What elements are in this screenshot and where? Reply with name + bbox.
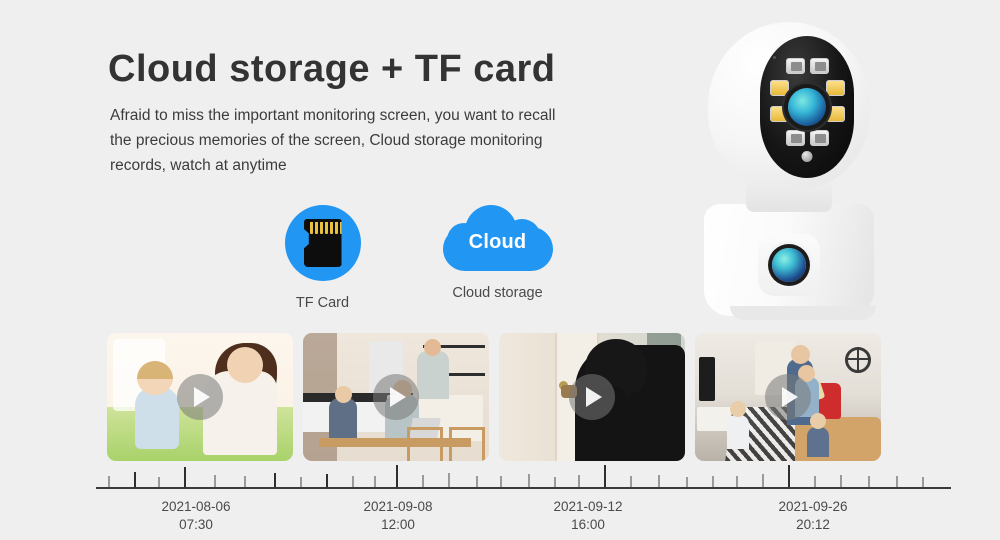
led-warm-2 (826, 80, 845, 96)
camera-secondary-lens (772, 248, 806, 282)
feature-list: TF Card Cloud Cloud storage (275, 205, 545, 311)
cloud-badge-text: Cloud (469, 231, 527, 254)
timeline-label-date-2: 2021-09-12 (553, 499, 622, 514)
child-body-shape-2 (807, 427, 829, 457)
led-ir-1 (786, 58, 805, 74)
camera-base (704, 204, 874, 316)
timeline-label-time-3: 20:12 (778, 516, 847, 534)
timeline-label-date-3: 2021-09-26 (778, 499, 847, 514)
clip-thumbnail-4[interactable] (695, 333, 881, 461)
girl-head-shape (335, 386, 352, 403)
page-description: Afraid to miss the important monitoring … (110, 103, 655, 178)
led-warm-3 (770, 106, 789, 122)
sd-contact-pins (310, 222, 348, 234)
led-warm-4 (826, 106, 845, 122)
timeline-label-0: 2021-08-0607:30 (161, 498, 230, 534)
description-line-2: the precious memories of the screen, Clo… (110, 128, 655, 153)
child-head-shape-1 (730, 401, 746, 417)
led-ir-4 (810, 130, 829, 146)
timeline-tick-19 (604, 465, 606, 489)
feature-label-cloud-storage: Cloud storage (452, 285, 542, 301)
cloud-icon: Cloud (443, 205, 553, 271)
timeline-label-group: 2021-08-0607:302021-09-0812:002021-09-12… (0, 498, 1000, 538)
led-ir-2 (810, 58, 829, 74)
timeline-label-date-0: 2021-08-06 (161, 499, 230, 514)
play-icon[interactable] (765, 374, 811, 420)
timeline-label-3: 2021-09-2620:12 (778, 498, 847, 534)
camera-face-panel (760, 36, 854, 178)
timeline-tick-group (96, 460, 951, 489)
man-head-shape (424, 339, 441, 356)
cloud-icon-wrap: Cloud (443, 205, 553, 271)
feature-label-tf-card: TF Card (296, 295, 349, 311)
light-sensor-icon (802, 151, 813, 162)
play-icon[interactable] (373, 374, 419, 420)
play-icon[interactable] (569, 374, 615, 420)
feature-tf-card[interactable]: TF Card (275, 205, 370, 311)
timeline-label-1: 2021-09-0812:00 (363, 498, 432, 534)
mother-head-shape (227, 347, 263, 383)
description-line-1: Afraid to miss the important monitoring … (110, 103, 655, 128)
recording-timeline[interactable]: 2021-08-0607:302021-09-0812:002021-09-12… (0, 460, 1000, 540)
timeline-label-time-2: 16:00 (553, 516, 622, 534)
chair-shape-1 (407, 427, 443, 461)
child-head-shape-2 (810, 413, 826, 429)
clip-thumbnail-2[interactable] (303, 333, 489, 461)
girl-body-shape (329, 398, 357, 438)
timeline-tick-26 (788, 465, 790, 489)
television-shape (699, 357, 715, 401)
clip-thumbnail-1[interactable] (107, 333, 293, 461)
child-body-shape-1 (727, 415, 749, 449)
wall-clock-icon (845, 347, 871, 373)
page-title: Cloud storage + TF card (108, 48, 556, 91)
feature-cloud-storage[interactable]: Cloud Cloud storage (450, 205, 545, 311)
camera-foot (730, 306, 876, 320)
timeline-label-time-0: 07:30 (161, 516, 230, 534)
camera-head (708, 22, 870, 190)
play-icon[interactable] (177, 374, 223, 420)
microphone-hole-icon (773, 56, 776, 59)
led-ir-3 (786, 130, 805, 146)
microsd-card-shape (304, 219, 342, 267)
description-line-3: records, watch at anytime (110, 153, 655, 178)
clip-thumbnail-3[interactable] (499, 333, 685, 461)
led-warm-1 (770, 80, 789, 96)
camera-primary-lens (788, 88, 826, 126)
camera-base-panel (758, 234, 820, 296)
clip-thumbnail-row (107, 333, 881, 461)
tf-card-icon (285, 205, 361, 281)
timeline-label-2: 2021-09-1216:00 (553, 498, 622, 534)
timeline-axis-line (96, 487, 951, 489)
timeline-tick-11 (396, 465, 398, 489)
security-camera-illustration (690, 22, 890, 322)
baby-body-shape (135, 387, 179, 449)
adult-head-shape (791, 345, 810, 364)
man-body-shape (417, 351, 449, 399)
chair-shape-2 (449, 427, 485, 461)
timeline-label-time-1: 12:00 (363, 516, 432, 534)
timeline-tick-3 (184, 467, 186, 489)
timeline-label-date-1: 2021-09-08 (363, 499, 432, 514)
